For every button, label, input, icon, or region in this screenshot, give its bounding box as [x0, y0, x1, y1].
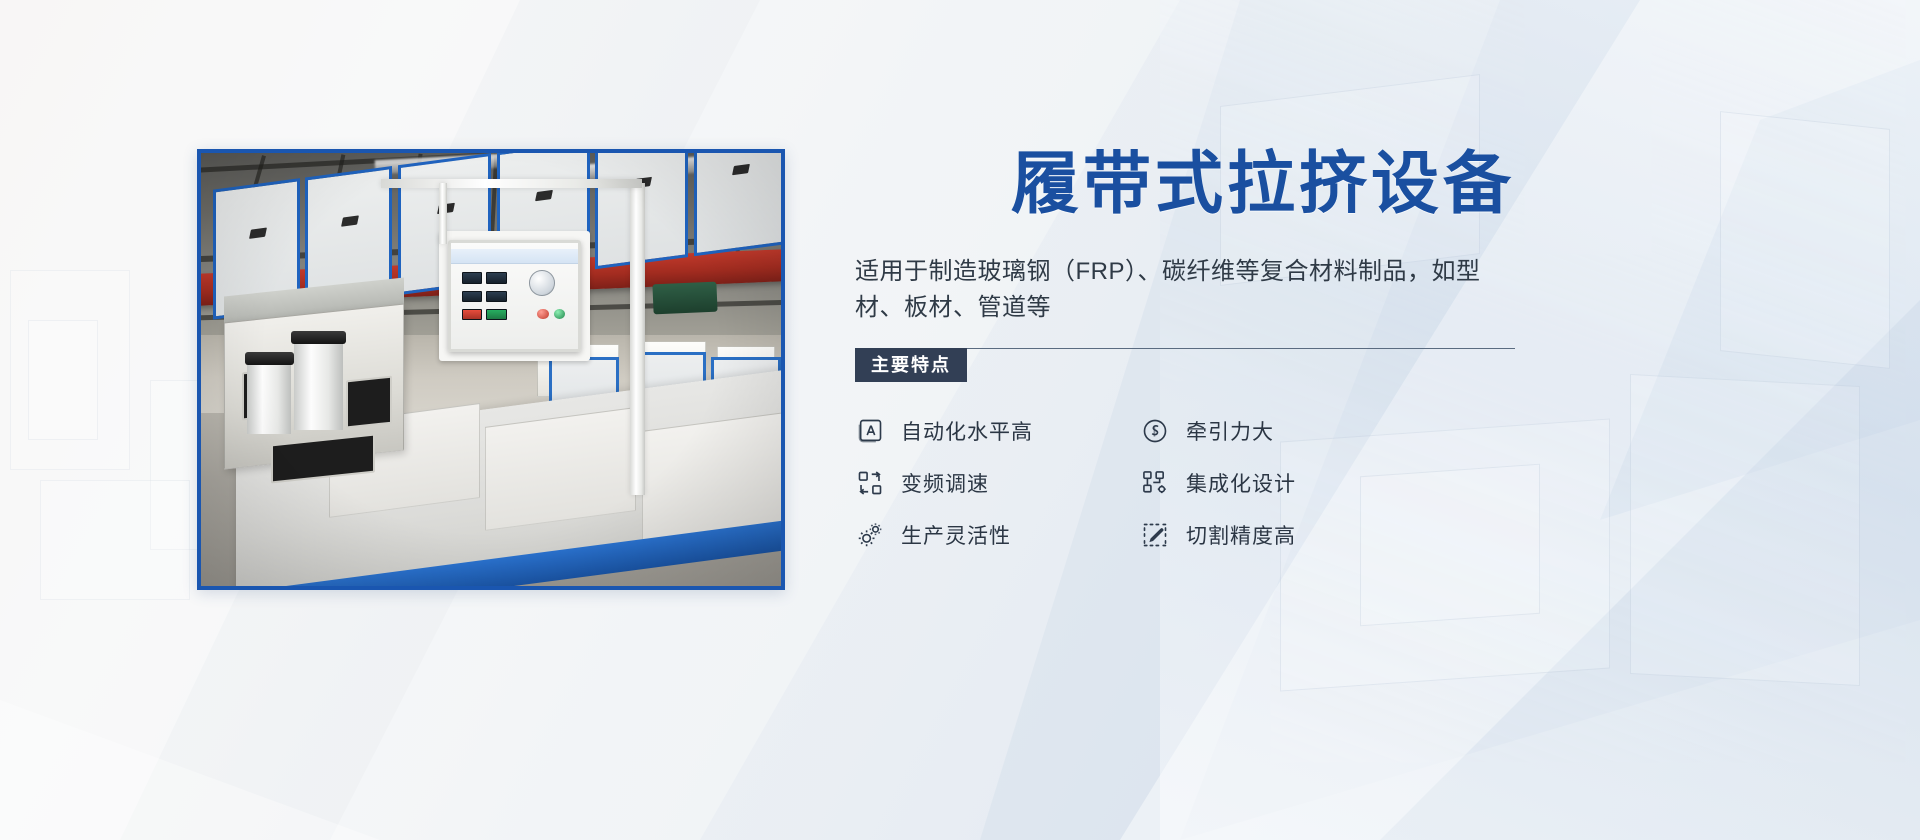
hierarchy-gear-icon — [1140, 468, 1170, 498]
transform-swap-icon — [855, 468, 885, 498]
section-divider-row: 主要特点 — [855, 348, 1515, 382]
product-photo — [201, 153, 781, 586]
page-title: 履带式拉挤设备 — [855, 150, 1515, 218]
pen-crop-icon — [1140, 520, 1170, 550]
feature-list: 自动化水平高 牵引力大 — [855, 416, 1515, 550]
feature-label: 集成化设计 — [1186, 468, 1296, 498]
photo-vignette — [201, 153, 781, 586]
banner-content: 履带式拉挤设备 适用于制造玻璃钢（FRP）、碳纤维等复合材料制品，如型材、板材、… — [855, 150, 1515, 550]
feature-label: 生产灵活性 — [901, 520, 1011, 550]
feature-item-cutting-precision: 切割精度高 — [1140, 520, 1515, 550]
feature-label: 自动化水平高 — [901, 416, 1033, 446]
letter-a-frame-icon — [855, 416, 885, 446]
speed-circle-icon — [1140, 416, 1170, 446]
feature-item-flexibility: 生产灵活性 — [855, 520, 1140, 550]
gears-icon — [855, 520, 885, 550]
status-badge: 主要特点 — [855, 348, 967, 382]
product-banner: 履带式拉挤设备 适用于制造玻璃钢（FRP）、碳纤维等复合材料制品，如型材、板材、… — [0, 0, 1920, 840]
product-photo-frame — [197, 149, 785, 590]
feature-item-traction: 牵引力大 — [1140, 416, 1515, 446]
feature-item-automation: 自动化水平高 — [855, 416, 1140, 446]
feature-label: 切割精度高 — [1186, 520, 1296, 550]
feature-label: 变频调速 — [901, 468, 989, 498]
feature-item-integration: 集成化设计 — [1140, 468, 1515, 498]
ghost-photo-left — [0, 230, 230, 660]
feature-label: 牵引力大 — [1186, 416, 1274, 446]
product-description: 适用于制造玻璃钢（FRP）、碳纤维等复合材料制品，如型材、板材、管道等 — [855, 254, 1515, 326]
feature-item-vfd: 变频调速 — [855, 468, 1140, 498]
